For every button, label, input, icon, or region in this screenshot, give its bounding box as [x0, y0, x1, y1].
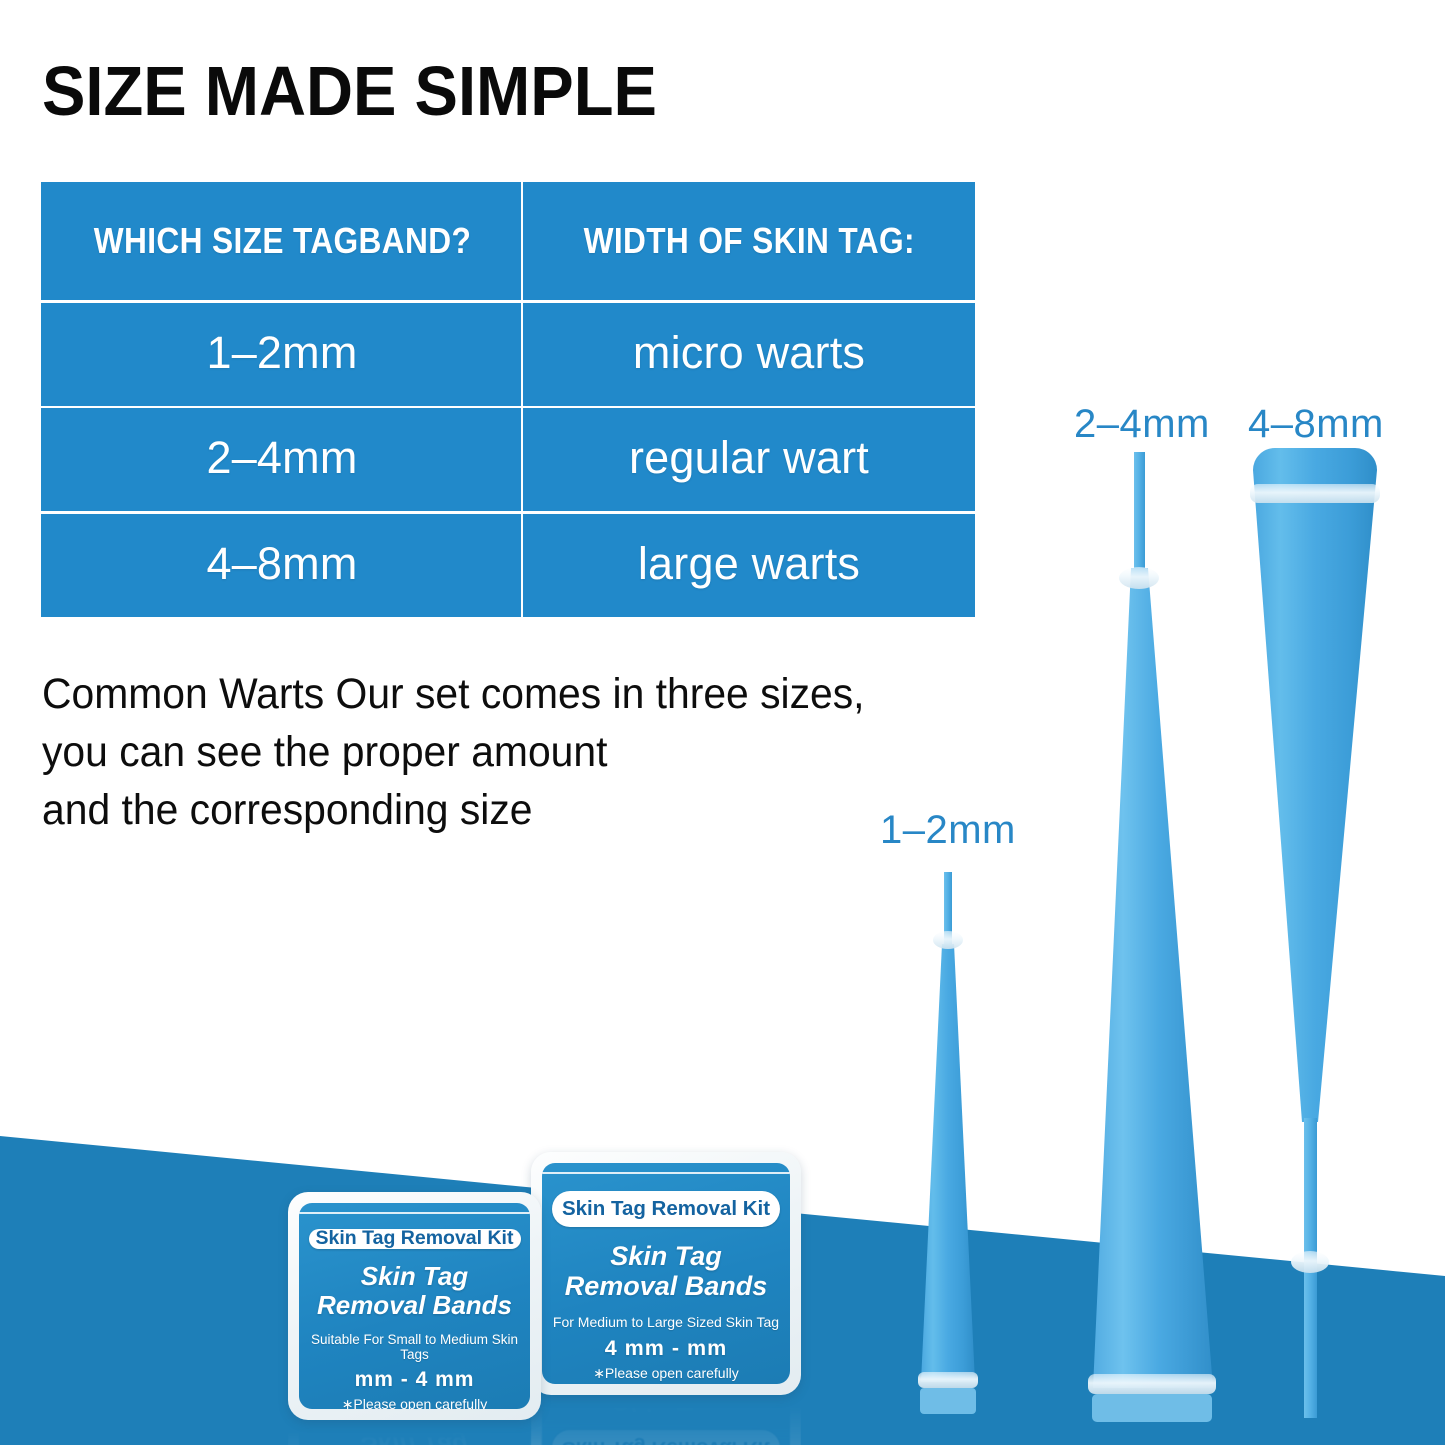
- product-badge: Skin Tag Removal Kit: [552, 1191, 780, 1227]
- product-warning: ∗Please open carefully: [342, 1397, 488, 1410]
- product-warning: ∗Please open carefully: [593, 1366, 739, 1381]
- table-cell-size-value: 2–4mm: [206, 432, 357, 484]
- reflection-badge: Skin Tag Removal Kit: [552, 1430, 780, 1445]
- table-header-cell-size: WHICH SIZE TAGBAND?: [41, 182, 523, 300]
- table-header-label-size: WHICH SIZE TAGBAND?: [93, 220, 470, 262]
- product-box-left-reflection: Skin Tag Removal Kit Skin Tag Removal Ba…: [288, 1420, 541, 1445]
- table-cell-description: large warts: [523, 511, 975, 617]
- table-row: 2–4mm regular wart: [41, 406, 975, 512]
- product-box-small[interactable]: Skin Tag Removal Kit Skin Tag Removal Ba…: [288, 1192, 541, 1420]
- product-brand-line-1: Skin Tag: [610, 1241, 722, 1271]
- product-badge: Skin Tag Removal Kit: [309, 1229, 521, 1249]
- product-box-large[interactable]: Skin Tag Removal Kit Skin Tag Removal Ba…: [531, 1152, 801, 1395]
- table-header-row: WHICH SIZE TAGBAND? WIDTH OF SKIN TAG:: [41, 182, 975, 300]
- table-cell-size: 4–8mm: [41, 511, 523, 617]
- product-size-range: 4 mm - mm: [605, 1337, 728, 1361]
- applicator-label-large: 4–8mm: [1248, 402, 1384, 447]
- applicator-small: [918, 872, 978, 1414]
- description-line-1: Common Warts Our set comes in three size…: [42, 665, 992, 723]
- table-header-label-width: WIDTH OF SKIN TAG:: [583, 220, 914, 262]
- product-brand-line-2: Removal Bands: [317, 1290, 512, 1320]
- page-title: SIZE MADE SIMPLE: [42, 56, 657, 126]
- product-box-large-label: Skin Tag Removal Kit Skin Tag Removal Ba…: [542, 1163, 790, 1384]
- table-cell-description: micro warts: [523, 300, 975, 406]
- applicator-label-medium: 2–4mm: [1074, 402, 1210, 447]
- table-cell-size: 2–4mm: [41, 406, 523, 512]
- table-cell-size-value: 1–2mm: [206, 327, 357, 379]
- applicator-medium: [1088, 452, 1216, 1422]
- product-suitability: For Medium to Large Sized Skin Tag: [553, 1315, 779, 1330]
- table-cell-description: regular wart: [523, 406, 975, 512]
- size-table: WHICH SIZE TAGBAND? WIDTH OF SKIN TAG: 1…: [41, 182, 975, 617]
- table-cell-description-value: large warts: [638, 538, 860, 590]
- description-line-2: you can see the proper amount: [42, 723, 992, 781]
- table-cell-size: 1–2mm: [41, 300, 523, 406]
- product-brand-line-2: Removal Bands: [565, 1271, 768, 1301]
- applicator-label-small: 1–2mm: [880, 808, 1016, 853]
- product-brand: Skin Tag Removal Bands: [565, 1241, 768, 1301]
- table-header-cell-width: WIDTH OF SKIN TAG:: [523, 182, 975, 300]
- product-box-right-reflection: Skin Tag Removal Kit Skin Tag Removal Ba…: [531, 1395, 801, 1445]
- table-cell-description-value: regular wart: [629, 432, 869, 484]
- table-cell-description-value: micro warts: [633, 327, 865, 379]
- table-row: 1–2mm micro warts: [41, 300, 975, 406]
- product-brand-line-1: Skin Tag: [361, 1261, 468, 1291]
- applicator-large: [1250, 448, 1380, 1418]
- product-box-small-label: Skin Tag Removal Kit Skin Tag Removal Ba…: [299, 1203, 530, 1409]
- description-line-3: and the corresponding size: [42, 781, 992, 839]
- table-cell-size-value: 4–8mm: [206, 538, 357, 590]
- table-row: 4–8mm large warts: [41, 511, 975, 617]
- product-suitability: Suitable For Small to Medium Skin Tags: [299, 1333, 530, 1363]
- description-paragraph: Common Warts Our set comes in three size…: [42, 665, 992, 839]
- infographic-root: SIZE MADE SIMPLE WHICH SIZE TAGBAND? WID…: [0, 0, 1445, 1445]
- product-size-range: mm - 4 mm: [355, 1368, 475, 1391]
- product-brand: Skin Tag Removal Bands: [317, 1262, 512, 1320]
